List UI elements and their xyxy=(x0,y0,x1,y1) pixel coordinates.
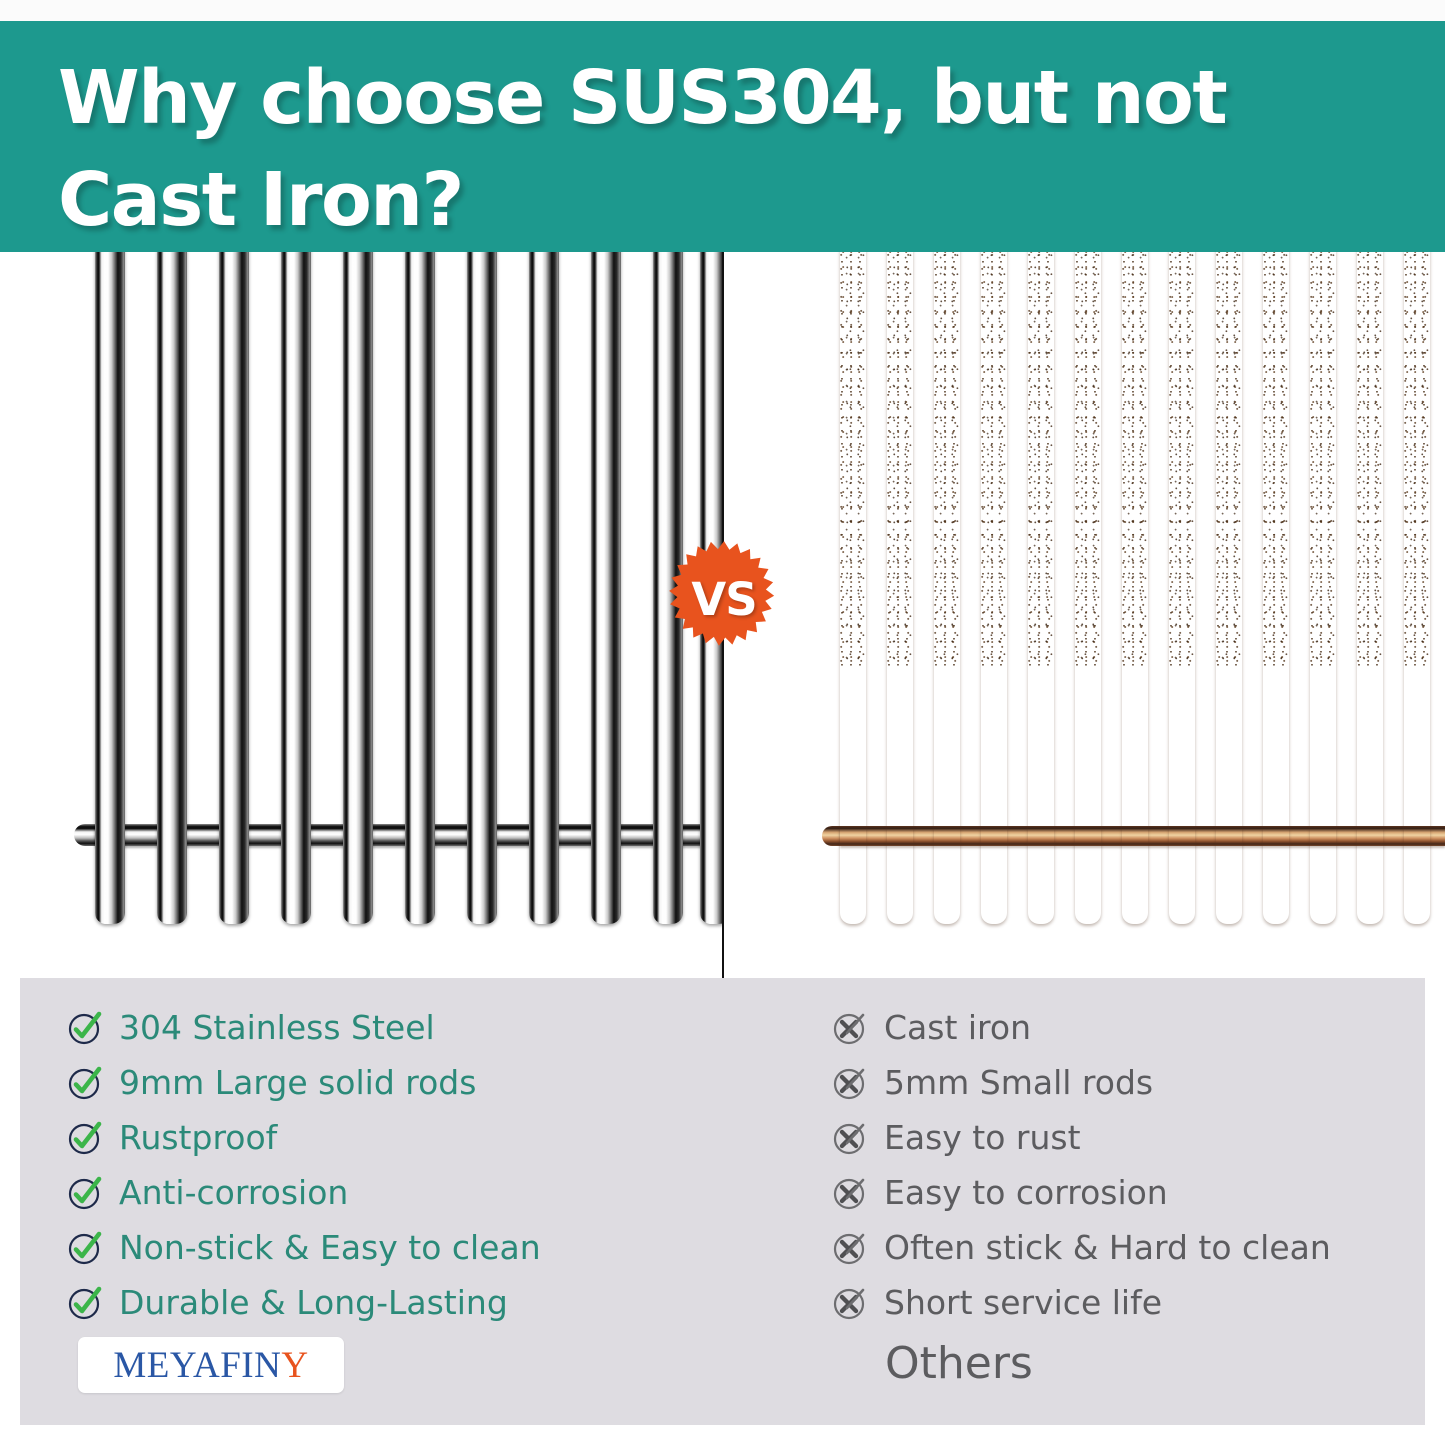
top-white-strip xyxy=(0,0,1445,21)
check-circle-icon xyxy=(65,1118,105,1158)
feature-row: Rustproof xyxy=(65,1110,705,1165)
feature-row: Durable & Long-Lasting xyxy=(65,1275,705,1330)
feature-label: 5mm Small rods xyxy=(884,1066,1153,1099)
rust-rod xyxy=(1122,252,1148,924)
rust-rod xyxy=(1310,252,1336,924)
rust-rod xyxy=(887,252,913,924)
feature-label: Often stick & Hard to clean xyxy=(884,1231,1331,1264)
steel-rod xyxy=(529,252,559,924)
others-label: Others xyxy=(885,1338,1033,1389)
feature-label: Rustproof xyxy=(119,1121,277,1154)
brand-logo-text: MEYAFINY xyxy=(113,1344,308,1387)
rust-rod xyxy=(1028,252,1054,924)
feature-label: Non-stick & Easy to clean xyxy=(119,1231,541,1264)
steel-rod xyxy=(405,252,435,924)
cross-circle-icon xyxy=(830,1228,870,1268)
feature-label: 9mm Large solid rods xyxy=(119,1066,476,1099)
feature-label: Short service life xyxy=(884,1286,1162,1319)
vs-label: VS xyxy=(665,540,783,658)
steel-rod xyxy=(157,252,187,924)
brand-logo: MEYAFINY xyxy=(78,1337,344,1393)
cross-circle-icon xyxy=(830,1283,870,1323)
feature-row: 5mm Small rods xyxy=(830,1055,1410,1110)
rust-rod xyxy=(1404,252,1430,924)
feature-label: 304 Stainless Steel xyxy=(119,1011,435,1044)
check-circle-icon xyxy=(65,1063,105,1103)
rust-rod xyxy=(1357,252,1383,924)
rust-rod xyxy=(840,252,866,924)
stainless-steel-photo xyxy=(0,252,722,978)
cross-circle-icon xyxy=(830,1118,870,1158)
header-banner: Why choose SUS304, but not Cast Iron? xyxy=(0,21,1445,252)
rust-rod xyxy=(934,252,960,924)
rust-rod xyxy=(981,252,1007,924)
check-circle-icon xyxy=(65,1008,105,1048)
cons-column: Cast iron 5mm Small rods Easy to rust Ea… xyxy=(830,1000,1410,1330)
feature-label: Easy to corrosion xyxy=(884,1176,1168,1209)
rust-rod xyxy=(1169,252,1195,924)
steel-rod xyxy=(467,252,497,924)
rust-rod xyxy=(1263,252,1289,924)
cross-circle-icon xyxy=(830,1063,870,1103)
check-circle-icon xyxy=(65,1173,105,1213)
steel-rod xyxy=(95,252,125,924)
cast-iron-photo xyxy=(722,252,1445,978)
feature-row: Easy to rust xyxy=(830,1110,1410,1165)
feature-row: Cast iron xyxy=(830,1000,1410,1055)
product-comparison-infographic: Why choose SUS304, but not Cast Iron? xyxy=(0,0,1445,1445)
feature-label: Durable & Long-Lasting xyxy=(119,1286,508,1319)
vs-badge: VS xyxy=(665,540,783,658)
feature-label: Anti-corrosion xyxy=(119,1176,348,1209)
feature-row: Anti-corrosion xyxy=(65,1165,705,1220)
rust-rod xyxy=(1075,252,1101,924)
feature-row: 304 Stainless Steel xyxy=(65,1000,705,1055)
feature-row: Often stick & Hard to clean xyxy=(830,1220,1410,1275)
steel-rod xyxy=(281,252,311,924)
feature-label: Easy to rust xyxy=(884,1121,1081,1154)
cross-circle-icon xyxy=(830,1173,870,1213)
steel-rod xyxy=(219,252,249,924)
rust-rod xyxy=(1216,252,1242,924)
cross-circle-icon xyxy=(830,1008,870,1048)
feature-label: Cast iron xyxy=(884,1011,1031,1044)
feature-row: Short service life xyxy=(830,1275,1410,1330)
check-circle-icon xyxy=(65,1283,105,1323)
brand-name-accent: Y xyxy=(281,1345,308,1386)
feature-row: 9mm Large solid rods xyxy=(65,1055,705,1110)
steel-rod xyxy=(343,252,373,924)
check-circle-icon xyxy=(65,1228,105,1268)
page-title: Why choose SUS304, but not Cast Iron? xyxy=(58,47,1405,251)
feature-row: Non-stick & Easy to clean xyxy=(65,1220,705,1275)
pros-column: 304 Stainless Steel 9mm Large solid rods… xyxy=(65,1000,705,1330)
steel-rod xyxy=(591,252,621,924)
brand-name-main: MEYAFIN xyxy=(113,1345,281,1386)
feature-row: Easy to corrosion xyxy=(830,1165,1410,1220)
